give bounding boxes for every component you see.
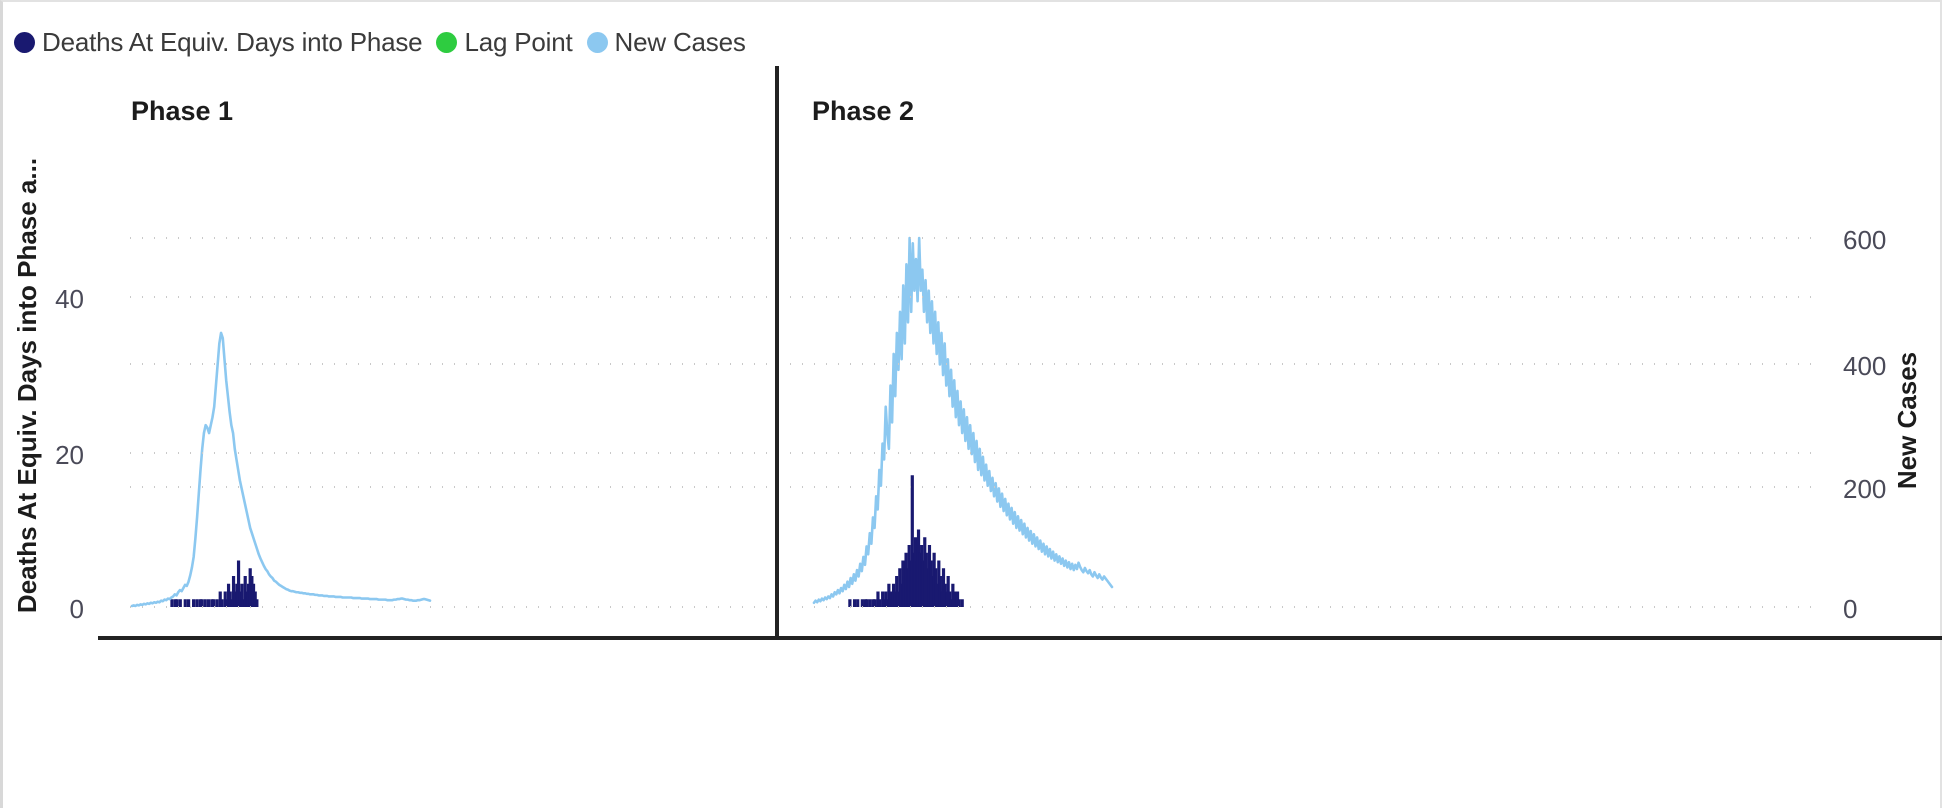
legend-item-deaths[interactable]: Deaths At Equiv. Days into Phase (14, 27, 422, 58)
y-tick-left-40: 40 (24, 284, 84, 315)
plot-area-phase-2[interactable] (782, 66, 1454, 636)
y-tick-right-400: 400 (1843, 351, 1923, 382)
death-bar (192, 599, 195, 607)
death-bar (175, 599, 178, 607)
circle-marker-icon (436, 32, 457, 53)
death-bar (848, 599, 851, 607)
death-bar (861, 599, 864, 607)
death-bar (869, 599, 872, 607)
chart-page: Deaths At Equiv. Days into Phase Lag Poi… (0, 0, 1942, 808)
legend-label-new-cases: New Cases (615, 27, 746, 58)
death-bar (853, 599, 856, 607)
plot-svg-phase-2 (782, 66, 1454, 636)
y-tick-right-600: 600 (1843, 225, 1923, 256)
x-axis-rule (98, 636, 1942, 640)
legend-item-lag-point[interactable]: Lag Point (436, 27, 572, 58)
chart-legend: Deaths At Equiv. Days into Phase Lag Poi… (14, 27, 760, 58)
legend-label-lag-point: Lag Point (464, 27, 572, 58)
y-tick-right-0: 0 (1843, 594, 1923, 625)
death-bar (865, 599, 868, 607)
y-tick-left-20: 20 (24, 440, 84, 471)
plot-svg-phase-1 (100, 66, 772, 636)
death-bar (195, 599, 198, 607)
legend-label-deaths: Deaths At Equiv. Days into Phase (42, 27, 422, 58)
circle-marker-icon (14, 32, 35, 53)
death-bar (184, 599, 187, 607)
death-bar (878, 599, 881, 607)
death-bar (204, 599, 207, 607)
death-bar (856, 599, 859, 607)
plot-area-phase-1[interactable] (100, 66, 772, 636)
death-bar (170, 599, 173, 607)
death-bar (212, 599, 215, 607)
circle-marker-icon (587, 32, 608, 53)
new-cases-line (132, 333, 430, 606)
y-tick-left-0: 0 (24, 594, 84, 625)
death-bar (220, 599, 223, 607)
death-bar (255, 599, 258, 607)
death-bar (207, 599, 210, 607)
legend-item-new-cases[interactable]: New Cases (587, 27, 746, 58)
y-axis-title-left-text: Deaths At Equiv. Days into Phase a... (13, 157, 44, 612)
panel-divider (775, 66, 779, 637)
y-tick-right-200: 200 (1843, 474, 1923, 505)
death-bar (179, 599, 182, 607)
death-bar (961, 599, 964, 607)
death-bar (873, 599, 876, 607)
death-bar (958, 599, 961, 607)
new-cases-line (814, 238, 1112, 603)
y-axis-title-left: Deaths At Equiv. Days into Phase a... (8, 150, 48, 620)
death-bar (187, 599, 190, 607)
death-bar (215, 599, 218, 607)
death-bar (200, 599, 203, 607)
